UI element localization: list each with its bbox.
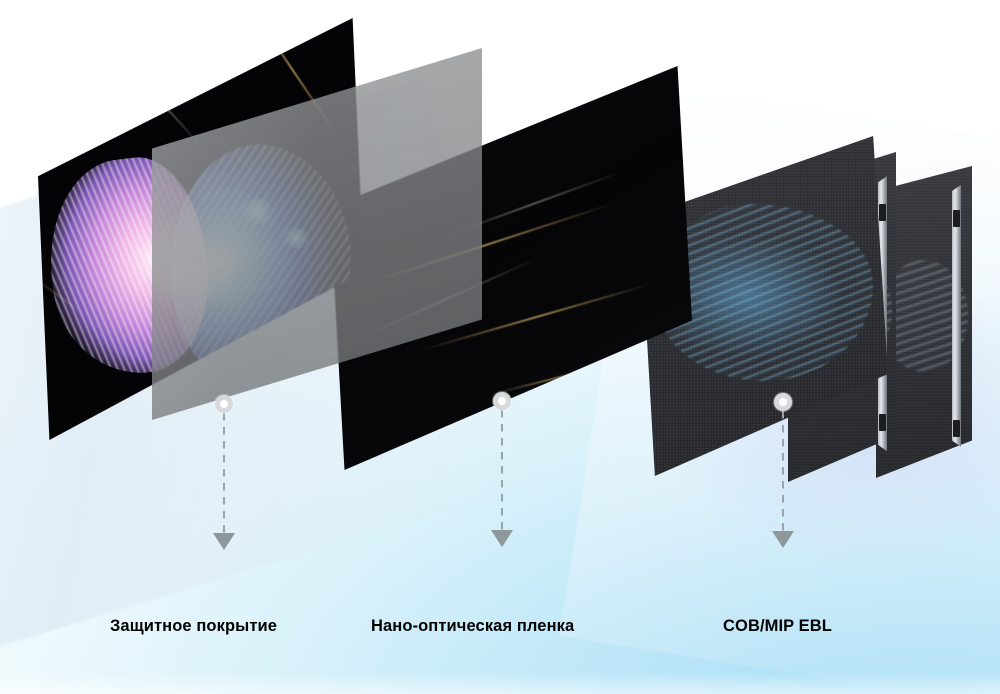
callout-label-nano-optical-film: Нано-оптическая пленка (371, 618, 574, 635)
down-arrow-icon-2 (491, 530, 513, 547)
cabinet-bracket-a-top (879, 204, 886, 221)
callout-leader-line-3 (782, 411, 784, 531)
callout-leader-line-1 (223, 413, 225, 533)
callout-leader-line-2 (501, 410, 503, 530)
marble-vein-5 (492, 353, 654, 395)
cabinet-bracket-b-bottom (953, 420, 960, 437)
exploded-layer-stack (0, 0, 1000, 694)
layer-diagram-canvas: Защитное покрытие Нано-оптическая пленка… (0, 0, 1000, 694)
callout-label-protective-coating: Защитное покрытие (110, 618, 277, 635)
cabinet-bracket-a-bottom (879, 414, 886, 431)
bottom-fade (0, 672, 1000, 694)
callout-label-cob-mip-ebl: COB/MIP EBL (723, 618, 832, 635)
callout-dot-icon-2[interactable] (493, 392, 511, 410)
callout-dot-icon-1[interactable] (215, 395, 233, 413)
cabinet-bracket-b-top (953, 210, 960, 227)
down-arrow-icon-3 (772, 531, 794, 548)
down-arrow-icon-1 (213, 533, 235, 550)
callout-dot-icon-3[interactable] (774, 393, 792, 411)
